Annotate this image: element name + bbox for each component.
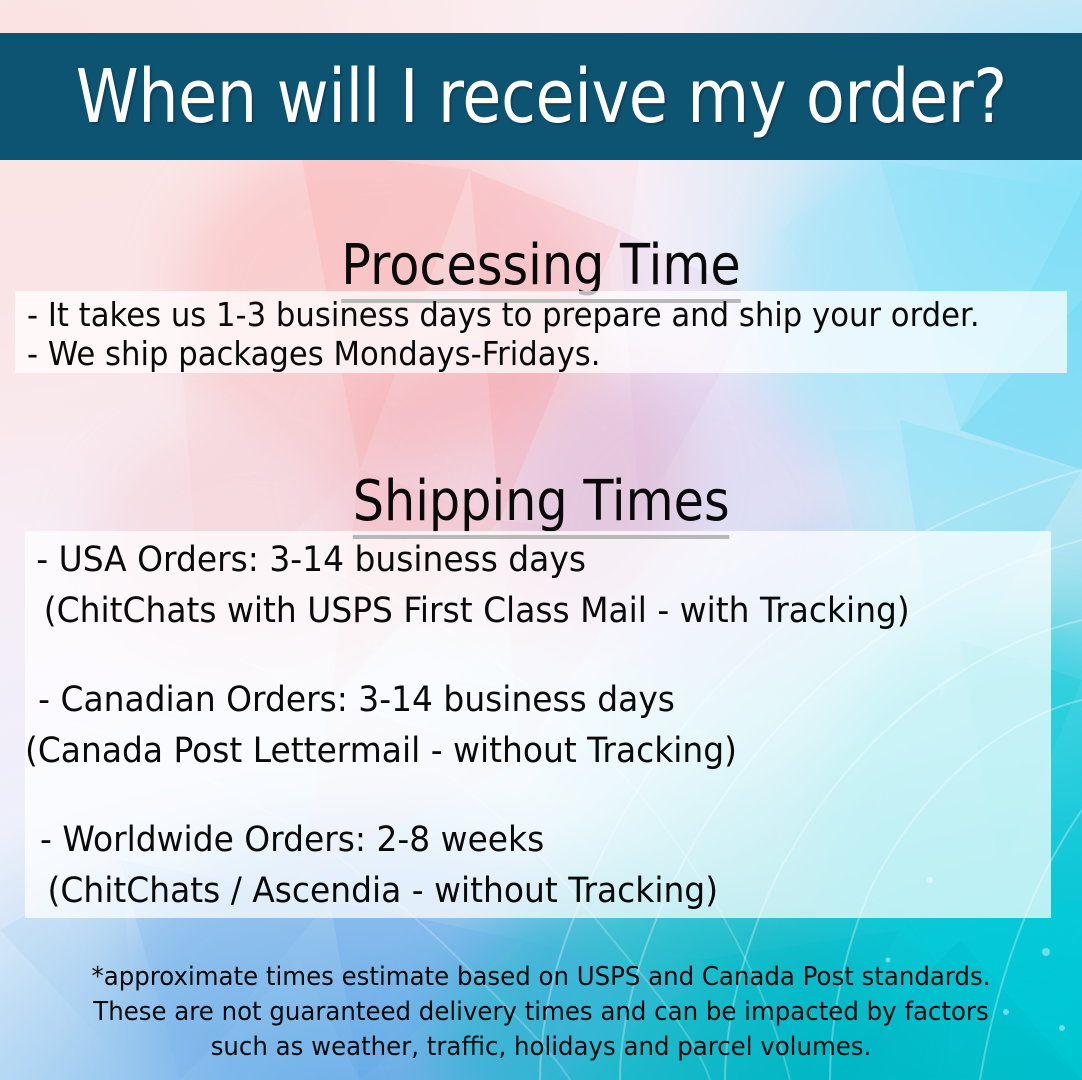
usa-carrier-line: (ChitChats with USPS First Class Mail - …: [25, 586, 989, 637]
worldwide-carrier-line: (ChitChats / Ascendia - without Tracking…: [25, 866, 989, 917]
processing-line-1: - It takes us 1-3 business days to prepa…: [27, 295, 994, 334]
shipping-group-worldwide: - Worldwide Orders: 2-8 weeks (ChitChats…: [25, 815, 1051, 917]
canadian-carrier-line: (Canada Post Lettermail - without Tracki…: [25, 726, 989, 777]
footnote-disclaimer: *approximate times estimate based on USP…: [0, 960, 1082, 1065]
footnote-line-1: *approximate times estimate based on USP…: [32, 960, 1049, 995]
shipping-times-panel: - USA Orders: 3-14 business days (ChitCh…: [25, 531, 1051, 918]
shipping-group-canada: - Canadian Orders: 3-14 business days (C…: [25, 675, 1051, 777]
processing-time-panel: - It takes us 1-3 business days to prepa…: [15, 291, 1067, 373]
shipping-times-heading-text: Shipping Times: [353, 474, 730, 539]
canadian-orders-line: - Canadian Orders: 3-14 business days: [25, 675, 989, 726]
shipping-times-heading: Shipping Times: [0, 474, 1082, 539]
usa-orders-line: - USA Orders: 3-14 business days: [25, 535, 989, 586]
content-area: Processing Time - It takes us 1-3 busine…: [0, 0, 1082, 1080]
footnote-line-3: such as weather, traffic, holidays and p…: [32, 1030, 1049, 1065]
shipping-group-usa: - USA Orders: 3-14 business days (ChitCh…: [25, 535, 1051, 637]
processing-line-2: - We ship packages Mondays-Fridays.: [27, 334, 994, 373]
footnote-line-2: These are not guaranteed delivery times …: [32, 995, 1049, 1030]
worldwide-orders-line: - Worldwide Orders: 2-8 weeks: [25, 815, 989, 866]
shipping-info-poster: When will I receive my order? Processing…: [0, 0, 1082, 1080]
